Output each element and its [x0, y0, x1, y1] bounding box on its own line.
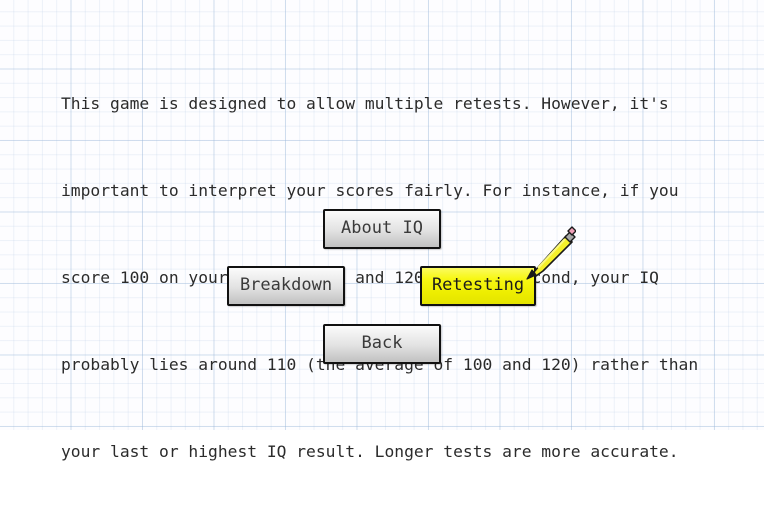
retesting-button[interactable]: Retesting — [420, 266, 536, 306]
retesting-button-label: Retesting — [432, 277, 524, 295]
paragraph-line: important to interpret your scores fairl… — [61, 176, 721, 205]
about-iq-button-label: About IQ — [341, 220, 423, 238]
paragraph-line: score 100 on your first test, and 120 on… — [61, 263, 721, 292]
about-iq-button[interactable]: About IQ — [323, 209, 441, 249]
breakdown-button[interactable]: Breakdown — [227, 266, 345, 306]
info-paragraph: This game is designed to allow multiple … — [61, 31, 721, 524]
paragraph-line: your last or highest IQ result. Longer t… — [61, 437, 721, 466]
back-button[interactable]: Back — [323, 324, 441, 364]
app-screen: This game is designed to allow multiple … — [0, 0, 764, 430]
back-button-label: Back — [362, 335, 403, 353]
breakdown-button-label: Breakdown — [240, 277, 332, 295]
paragraph-line: This game is designed to allow multiple … — [61, 89, 721, 118]
